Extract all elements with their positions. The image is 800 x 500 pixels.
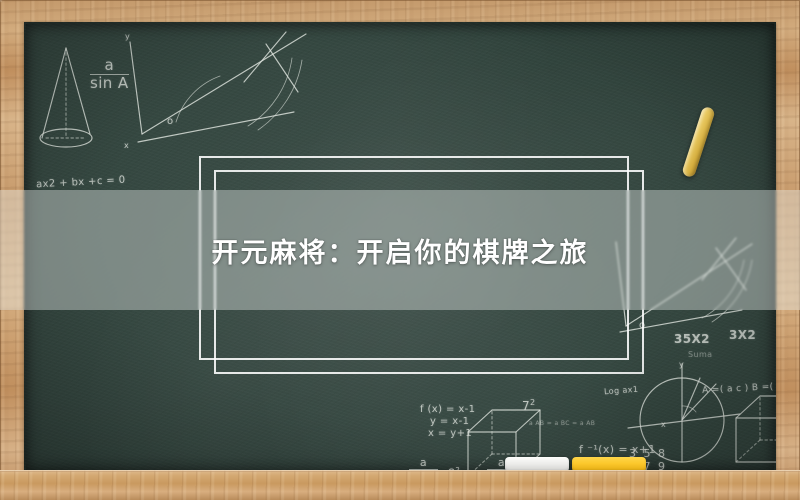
small-equation: a AB = a BC = a AB	[529, 420, 595, 427]
ledge-top-highlight	[0, 470, 800, 472]
angle-diagram-topleft	[116, 30, 316, 170]
gold-chalk-stick	[681, 106, 716, 178]
chalkboard-banner: a sin A y x o ax2 + bx +c = 0	[0, 0, 800, 500]
page-title: 开元麻将：开启你的棋牌之旅	[212, 231, 589, 270]
title-band: 开元麻将：开启你的棋牌之旅	[0, 190, 800, 310]
ledge-wood-grain	[0, 470, 800, 500]
term-3x2-label: 3X2	[729, 328, 756, 342]
power-seven-squared: 72	[522, 398, 536, 413]
axis-label-y-topleft: y	[125, 32, 130, 41]
angle-label-topleft: o	[167, 116, 174, 127]
axis-label-x-topleft: x	[124, 141, 129, 150]
axis-label-y-circle: y	[679, 360, 684, 369]
suma-label: Suma	[688, 350, 712, 359]
chalk-tray-ledge	[0, 470, 800, 500]
axis-label-x-circle: x	[661, 420, 666, 429]
cube-wireframe-right	[730, 390, 776, 472]
quadratic-equation: ax2 + bx +c = 0	[36, 175, 126, 191]
term-35x2-label: 35X2	[674, 332, 710, 346]
